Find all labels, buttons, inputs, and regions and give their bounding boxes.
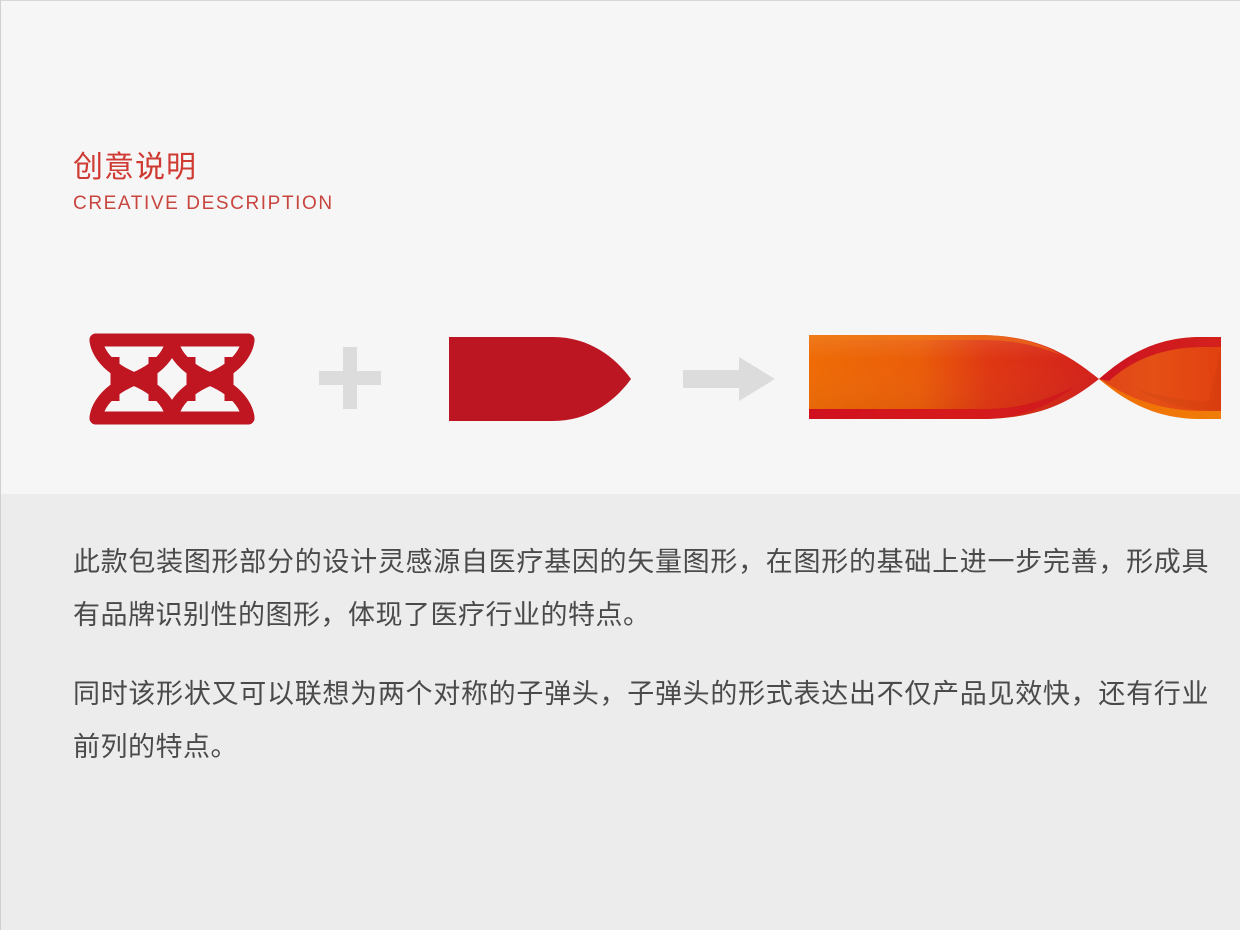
description-paragraph-2: 同时该形状又可以联想为两个对称的子弹头，子弹头的形式表达出不仅产品见效快，还有行… — [73, 668, 1209, 774]
heading-block: 创意说明 CREATIVE DESCRIPTION — [73, 149, 334, 216]
description-paragraph-1: 此款包装图形部分的设计灵感源自医疗基因的矢量图形，在图形的基础上进一步完善，形成… — [73, 536, 1209, 642]
dna-helix-graphic — [89, 333, 269, 425]
arrow-right-icon — [683, 357, 775, 401]
plus-sign-icon — [319, 347, 381, 409]
description-text-block: 此款包装图形部分的设计灵感源自医疗基因的矢量图形，在图形的基础上进一步完善，形成… — [73, 536, 1209, 774]
slide-canvas: 创意说明 CREATIVE DESCRIPTION — [0, 0, 1240, 930]
page-title-cn: 创意说明 — [73, 149, 334, 187]
bullet-graphic — [449, 337, 631, 421]
concept-equation-row — [1, 319, 1240, 439]
page-title-en: CREATIVE DESCRIPTION — [73, 191, 334, 216]
ribbon-result-graphic — [809, 331, 1221, 427]
